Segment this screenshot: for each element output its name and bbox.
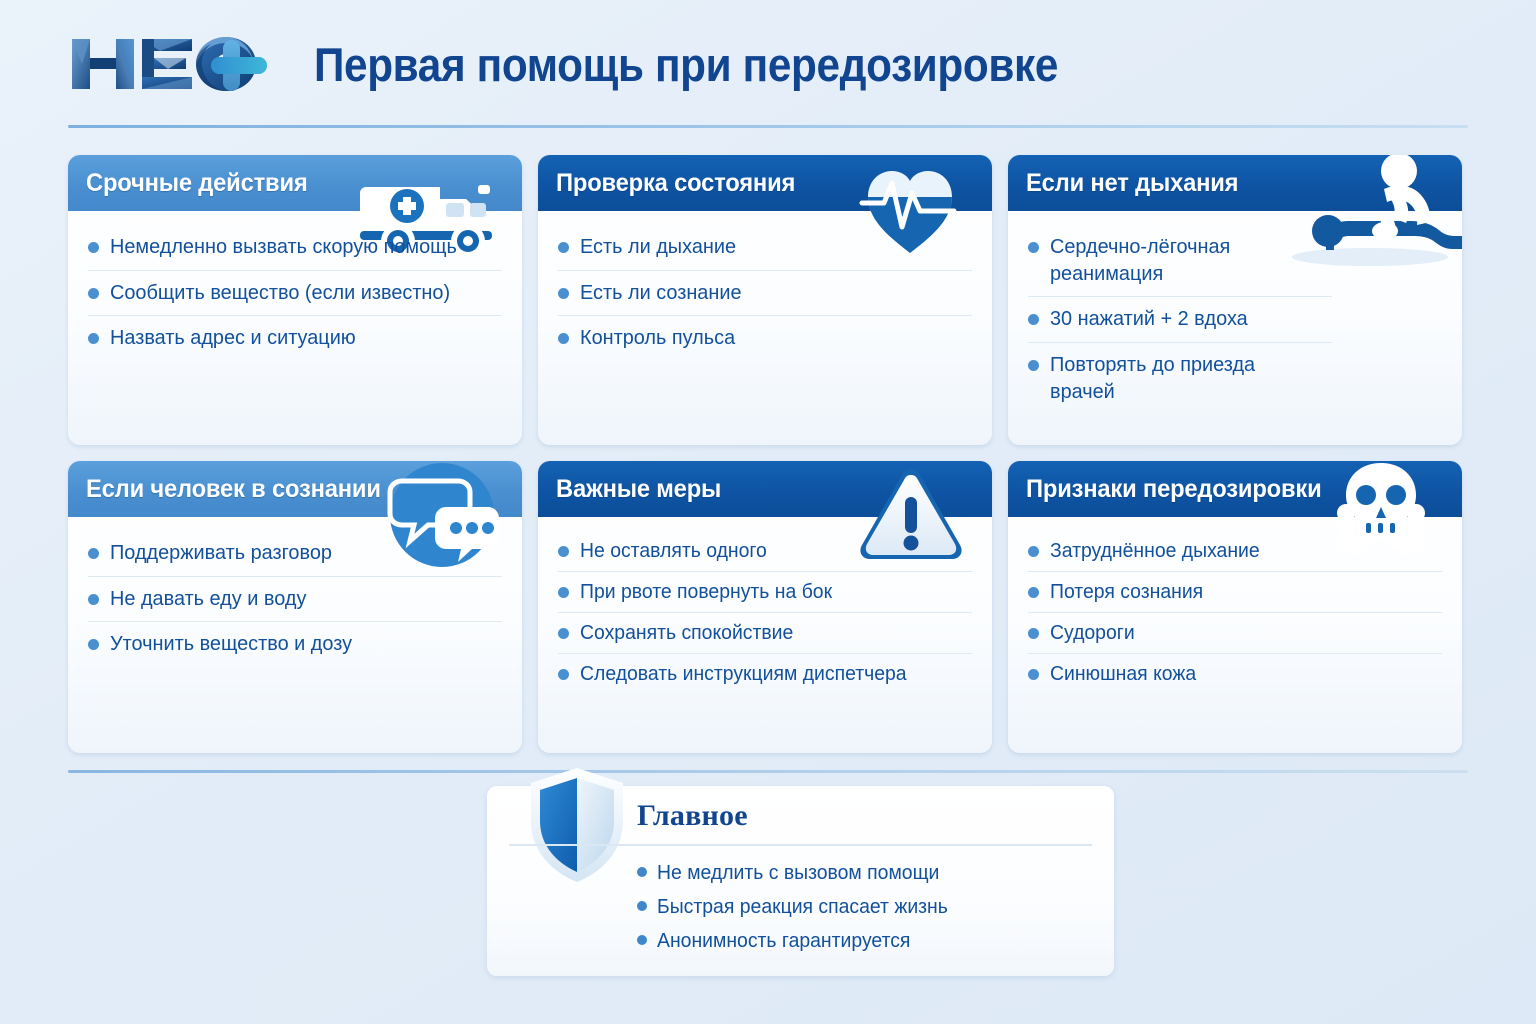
card-header: Если человек в сознании bbox=[68, 461, 522, 517]
bullet-icon bbox=[558, 669, 569, 680]
card-header: Проверка состояния bbox=[538, 155, 992, 211]
list-item: Потеря сознания bbox=[1028, 572, 1442, 613]
card-title: Признаки передозировки bbox=[1026, 475, 1321, 504]
bullet-icon bbox=[88, 242, 99, 253]
list-item-label: Следовать инструкциям диспетчера bbox=[580, 661, 907, 687]
list-item: При рвоте повернуть на бок bbox=[558, 572, 972, 613]
card-overdose-signs: Признаки передозировки bbox=[1008, 461, 1462, 753]
bullet-icon bbox=[558, 587, 569, 598]
list-item-label: Уточнить вещество и дозу bbox=[110, 631, 352, 658]
header-divider bbox=[68, 125, 1468, 128]
list-item-label: Есть ли дыхание bbox=[580, 234, 736, 261]
card-header: Важные меры bbox=[538, 461, 992, 517]
card-item-list: Сердечно-лёгочная реанимация 30 нажатий … bbox=[1008, 211, 1462, 414]
list-item-label: Сообщить вещество (если известно) bbox=[110, 280, 450, 307]
bullet-icon bbox=[88, 594, 99, 605]
page-title: Первая помощь при передозировке bbox=[314, 37, 1058, 92]
list-item: Контроль пульса bbox=[558, 316, 972, 361]
list-item-label: Поддерживать разговор bbox=[110, 540, 332, 567]
list-item-label: Анонимность гарантируется bbox=[657, 928, 910, 954]
card-grid: Срочные действия bbox=[68, 155, 1468, 753]
infographic-page: Первая помощь при передозировке Срочные … bbox=[0, 0, 1536, 1024]
card-header: Срочные действия bbox=[68, 155, 522, 211]
neo-plus-logo-icon bbox=[68, 31, 286, 97]
bullet-icon bbox=[558, 628, 569, 639]
bullet-icon bbox=[1028, 628, 1039, 639]
list-item-label: Сердечно-лёгочная реанимация bbox=[1050, 234, 1324, 287]
card-item-list: Немедленно вызвать скорую помощь Сообщит… bbox=[68, 211, 522, 361]
list-item-label: При рвоте повернуть на бок bbox=[580, 579, 832, 605]
list-item: Судороги bbox=[1028, 613, 1442, 654]
bullet-icon bbox=[558, 546, 569, 557]
card-no-breathing: Если нет дыхания bbox=[1008, 155, 1462, 445]
summary-header: Главное bbox=[487, 786, 1114, 846]
bullet-icon bbox=[1028, 587, 1039, 598]
bullet-icon bbox=[88, 639, 99, 650]
bullet-icon bbox=[1028, 314, 1039, 325]
list-item-label: Контроль пульса bbox=[580, 325, 735, 352]
bullet-icon bbox=[558, 242, 569, 253]
list-item-label: Есть ли сознание bbox=[580, 280, 742, 307]
card-title: Срочные действия bbox=[86, 169, 308, 198]
list-item-label: Назвать адрес и ситуацию bbox=[110, 325, 356, 352]
list-item-label: Судороги bbox=[1050, 620, 1135, 646]
list-item: Затруднённое дыхание bbox=[1028, 531, 1442, 572]
list-item-label: Сохранять спокойствие bbox=[580, 620, 793, 646]
list-item: Сердечно-лёгочная реанимация bbox=[1028, 225, 1332, 297]
bullet-icon bbox=[1028, 669, 1039, 680]
summary-title: Главное bbox=[637, 799, 748, 833]
bullet-icon bbox=[1028, 360, 1039, 371]
list-item-label: Потеря сознания bbox=[1050, 579, 1203, 605]
list-item-label: Затруднённое дыхание bbox=[1050, 538, 1260, 564]
card-title: Если человек в сознании bbox=[86, 475, 381, 504]
list-item-label: Повторять до приезда врачей bbox=[1050, 352, 1324, 405]
card-item-list: Поддерживать разговор Не давать еду и во… bbox=[68, 517, 522, 667]
list-item: Не медлить с вызовом помощи bbox=[637, 856, 1094, 890]
list-item-label: Синюшная кожа bbox=[1050, 661, 1196, 687]
bullet-icon bbox=[88, 548, 99, 559]
bullet-icon bbox=[1028, 546, 1039, 557]
list-item: Анонимность гарантируется bbox=[637, 924, 1094, 958]
card-condition-check: Проверка состояния Есть ли дыхание Есть … bbox=[538, 155, 992, 445]
list-item-label: 30 нажатий + 2 вдоха bbox=[1050, 306, 1248, 333]
card-person-conscious: Если человек в сознании bbox=[68, 461, 522, 753]
list-item: Есть ли сознание bbox=[558, 271, 972, 317]
list-item: Поддерживать разговор bbox=[88, 531, 502, 577]
list-item: Немедленно вызвать скорую помощь bbox=[88, 225, 502, 271]
card-item-list: Есть ли дыхание Есть ли сознание Контрол… bbox=[538, 211, 992, 361]
card-important-measures: Важные меры bbox=[538, 461, 992, 753]
list-item: Не давать еду и воду bbox=[88, 577, 502, 623]
bullet-icon bbox=[1028, 242, 1039, 253]
list-item: Следовать инструкциям диспетчера bbox=[558, 654, 972, 694]
bullet-icon bbox=[637, 901, 647, 911]
card-header: Признаки передозировки bbox=[1008, 461, 1462, 517]
list-item: Не оставлять одного bbox=[558, 531, 972, 572]
bullet-icon bbox=[88, 333, 99, 344]
summary-divider bbox=[68, 770, 1468, 773]
bullet-icon bbox=[637, 867, 647, 877]
list-item: Уточнить вещество и дозу bbox=[88, 622, 502, 667]
bullet-icon bbox=[558, 333, 569, 344]
list-item: Быстрая реакция спасает жизнь bbox=[637, 890, 1094, 924]
list-item-label: Не давать еду и воду bbox=[110, 586, 306, 613]
header-bar: Первая помощь при передозировке bbox=[68, 22, 1468, 106]
card-urgent-actions: Срочные действия bbox=[68, 155, 522, 445]
card-item-list: Затруднённое дыхание Потеря сознания Суд… bbox=[1008, 517, 1462, 694]
list-item: 30 нажатий + 2 вдоха bbox=[1028, 297, 1332, 343]
list-item: Назвать адрес и ситуацию bbox=[88, 316, 502, 361]
list-item: Есть ли дыхание bbox=[558, 225, 972, 271]
list-item: Сообщить вещество (если известно) bbox=[88, 271, 502, 317]
bullet-icon bbox=[637, 935, 647, 945]
list-item-label: Немедленно вызвать скорую помощь bbox=[110, 234, 457, 261]
card-title: Если нет дыхания bbox=[1026, 169, 1238, 198]
list-item: Синюшная кожа bbox=[1028, 654, 1442, 694]
summary-item-list: Не медлить с вызовом помощи Быстрая реак… bbox=[487, 846, 1114, 958]
summary-panel: Главное Не медлить с вызовом помощи Быст… bbox=[487, 786, 1114, 976]
card-item-list: Не оставлять одного При рвоте повернуть … bbox=[538, 517, 992, 694]
list-item: Повторять до приезда врачей bbox=[1028, 343, 1332, 414]
card-title: Проверка состояния bbox=[556, 169, 795, 198]
bullet-icon bbox=[88, 288, 99, 299]
list-item-label: Быстрая реакция спасает жизнь bbox=[657, 894, 948, 920]
list-item-label: Не медлить с вызовом помощи bbox=[657, 860, 939, 886]
card-title: Важные меры bbox=[556, 475, 721, 504]
bullet-icon bbox=[558, 288, 569, 299]
list-item: Сохранять спокойствие bbox=[558, 613, 972, 654]
card-header: Если нет дыхания bbox=[1008, 155, 1462, 211]
list-item-label: Не оставлять одного bbox=[580, 538, 767, 564]
